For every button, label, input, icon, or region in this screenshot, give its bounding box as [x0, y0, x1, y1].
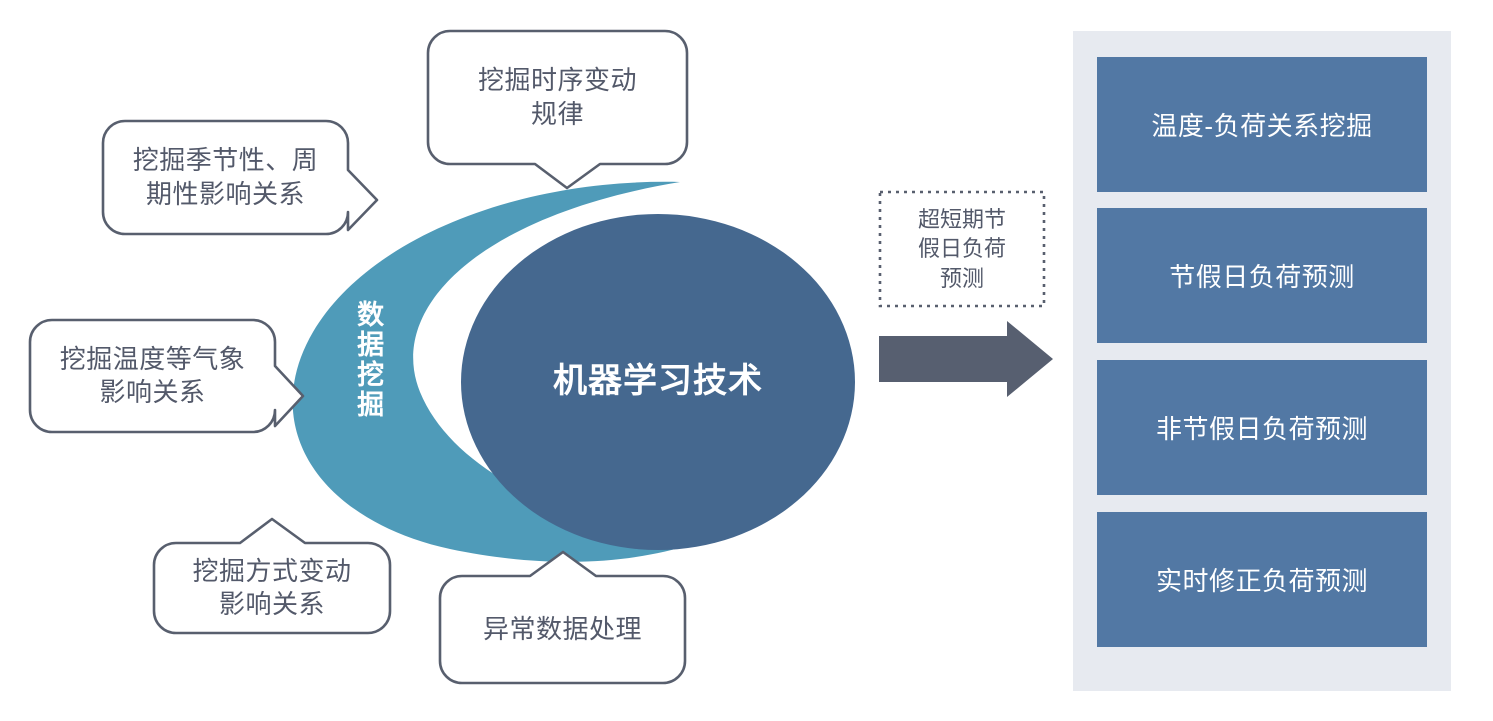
- arrow-right-icon: [879, 321, 1053, 397]
- callout-mode-change-shape: [154, 519, 390, 633]
- output-box-holiday[interactable]: 节假日负荷预测: [1097, 208, 1427, 343]
- output-panel: 温度-负荷关系挖掘 节假日负荷预测 非节假日负荷预测 实时修正负荷预测: [1073, 31, 1451, 691]
- callout-seasonality-shape: [103, 121, 377, 234]
- output-box-non-holiday[interactable]: 非节假日负荷预测: [1097, 360, 1427, 495]
- output-box-temp-load-label: 温度-负荷关系挖掘: [1151, 106, 1372, 143]
- output-box-temp-load[interactable]: 温度-负荷关系挖掘: [1097, 57, 1427, 192]
- output-box-holiday-label: 节假日负荷预测: [1169, 257, 1355, 294]
- callout-timeseries-shape: [428, 31, 687, 188]
- output-box-non-holiday-label: 非节假日负荷预测: [1156, 409, 1368, 446]
- output-box-realtime-adjust-label: 实时修正负荷预测: [1156, 561, 1368, 598]
- callout-anomaly-shape: [440, 552, 685, 683]
- core-ellipse: [461, 214, 855, 550]
- output-box-realtime-adjust[interactable]: 实时修正负荷预测: [1097, 512, 1427, 647]
- diagram-canvas: 挖掘时序变动 规律 挖掘季节性、周 期性影响关系 挖掘温度等气象 影响关系 挖掘…: [0, 0, 1493, 721]
- callout-weather-shape: [30, 320, 303, 432]
- dashed-note-box: [880, 192, 1044, 306]
